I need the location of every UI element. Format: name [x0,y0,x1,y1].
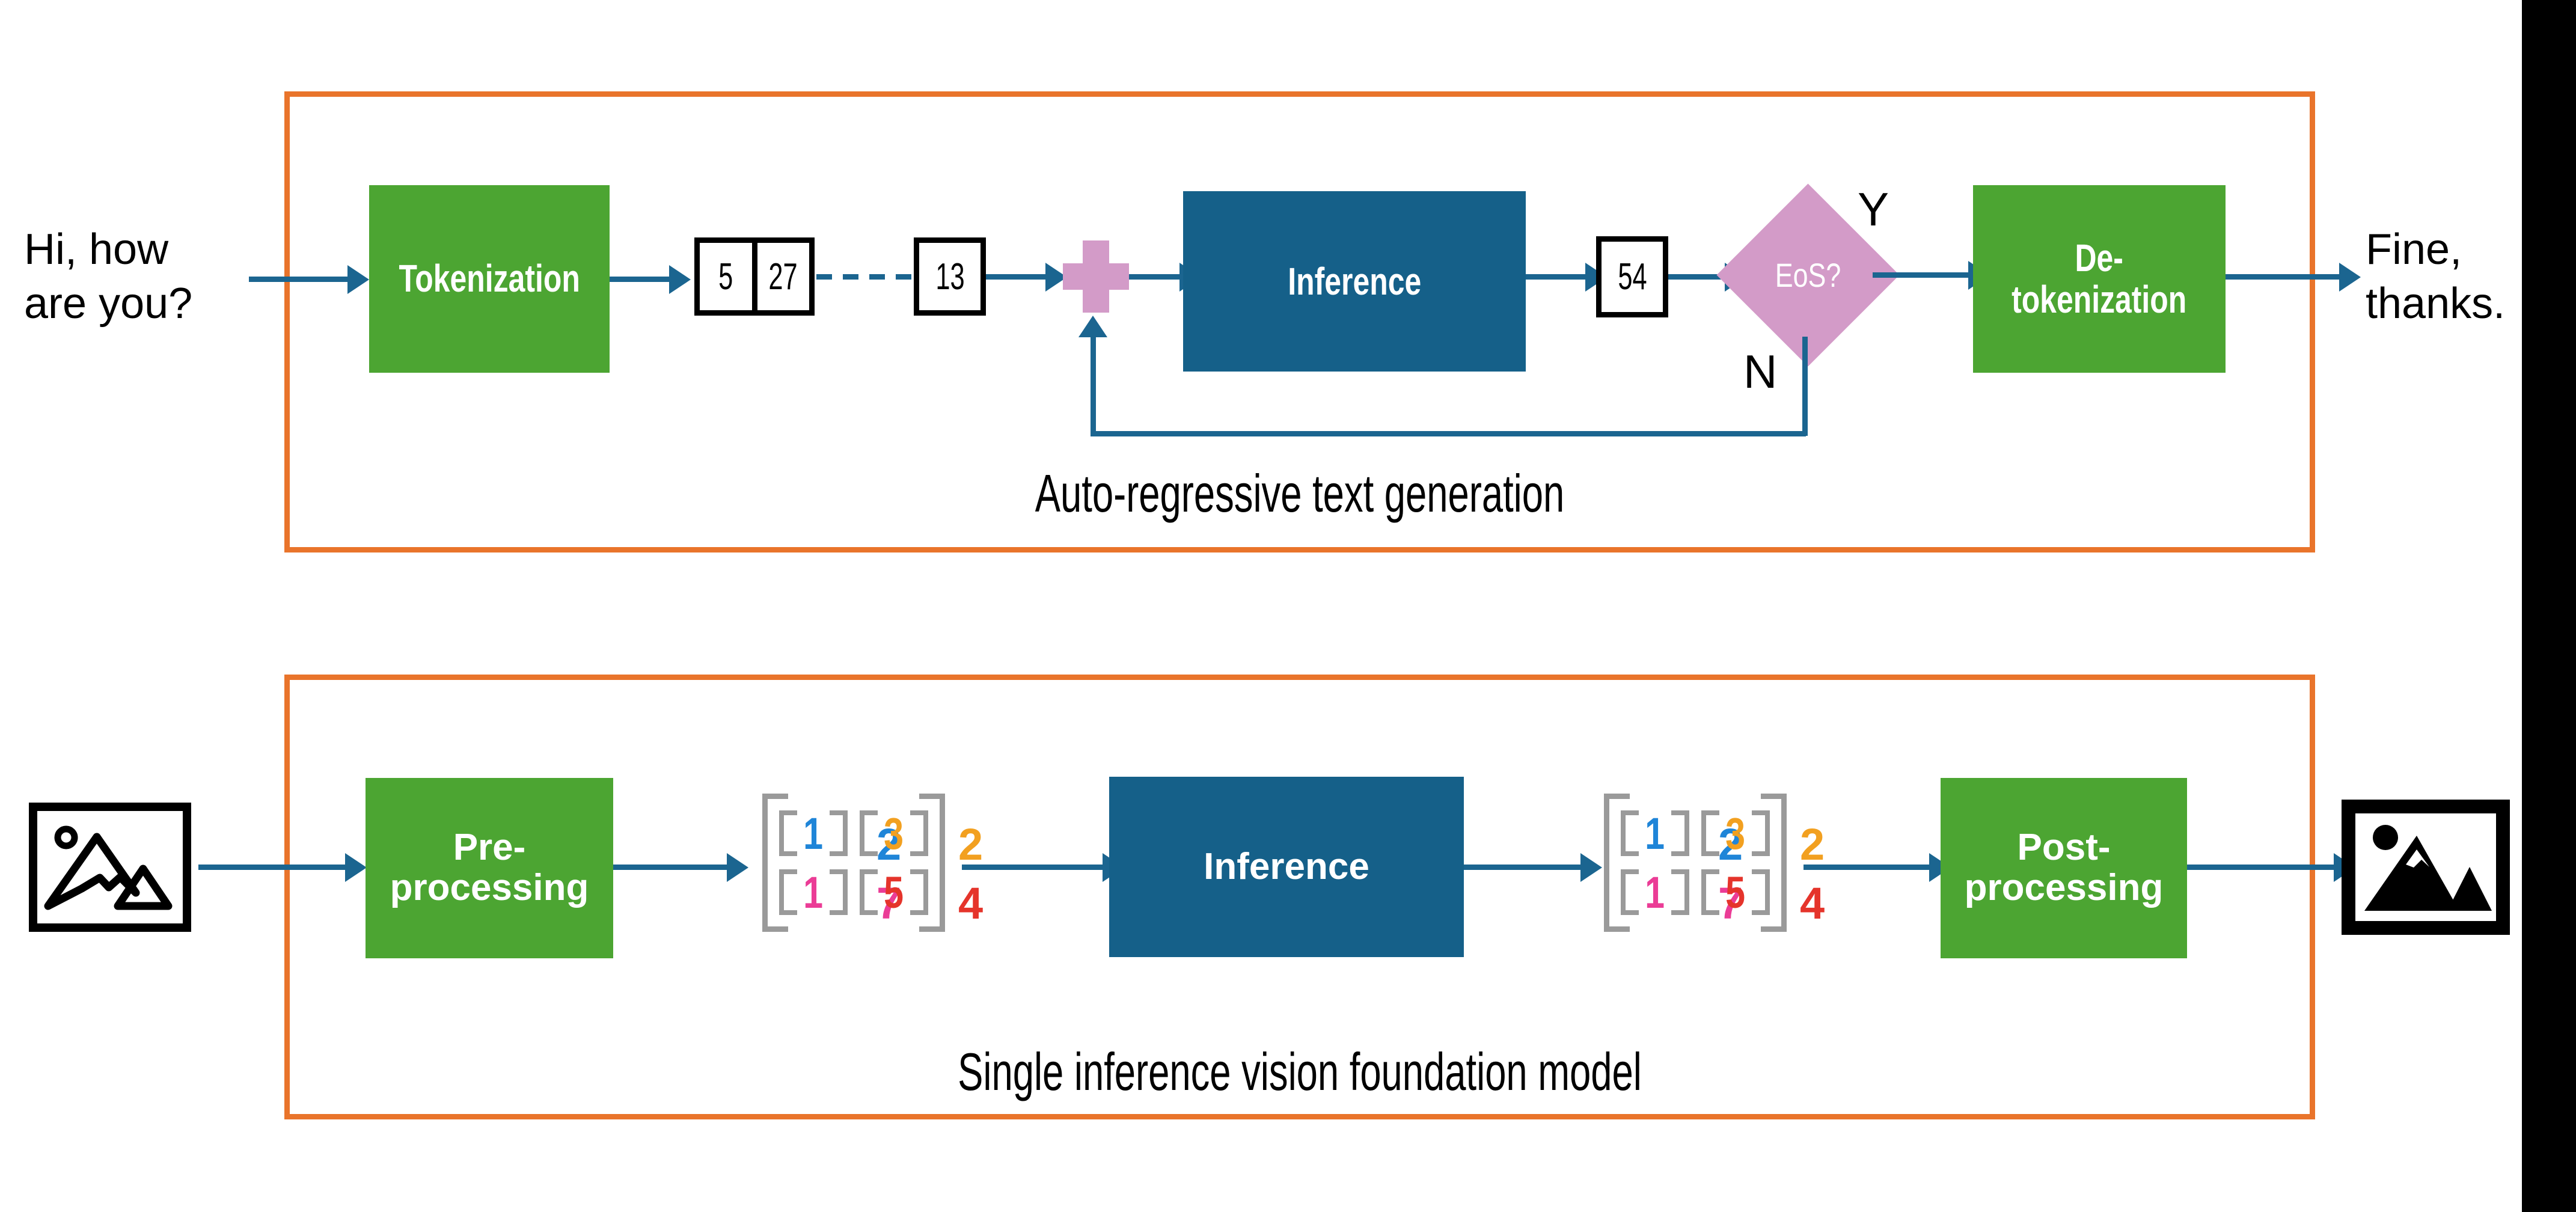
tensor-output-value-1-3: 4 [1800,878,1825,929]
tensor-input-value-0-0: 1 [804,808,824,859]
tokenization-box[interactable]: Tokenization [369,185,610,373]
preprocessing-label-line-1: Pre- [390,828,589,868]
concat-plus-icon [1063,240,1129,313]
arrow-eos-yes-to-detokenization-line [1873,272,1972,278]
tokenization-label: Tokenization [399,258,580,299]
tensor-output-matrix: 1 3 1 5 [1604,794,1787,932]
tensor-output-value-0-3: 2 [1800,819,1825,870]
eos-decision-diamond[interactable]: EoS? [1743,210,1873,340]
tensor-input-cell-0-0: 1 [778,807,849,860]
branch-label-yes: Y [1858,180,1889,239]
token-box-0: 5 [700,243,752,310]
output-token-value: 54 [1618,256,1647,298]
arrow-plus-to-inference-line [1129,274,1183,280]
eos-diamond-label-wrap: EoS? [1743,210,1873,340]
feedback-loop-left-segment [1091,431,1806,436]
tensor-output-value-0-1: 3 [1726,808,1746,859]
arrow-detokenization-to-output-head [2339,263,2361,292]
plus-vertical-bar [1083,240,1109,313]
tensor-input-value-1-0: 1 [804,867,824,918]
preprocessing-label-line-2: processing [390,868,589,908]
input-prompt-line-1: Hi, how [24,222,265,277]
detokenization-label-wrap: De- tokenization [2012,237,2186,320]
tensor-input-matrix: 1 3 1 5 [762,794,945,932]
tensor-output-value-1-1: 5 [1726,867,1746,918]
feedback-loop-down-segment [1802,337,1808,436]
arrow-tokenization-to-tokens-head [669,265,691,294]
tensor-output-cell-1-1: 5 [1700,866,1771,919]
feedback-loop-up-segment [1091,337,1096,433]
preprocessing-box[interactable]: Pre- processing [366,778,613,958]
token-value-last: 13 [935,256,964,298]
preprocessing-label-wrap: Pre- processing [390,828,589,908]
output-token-box: 54 [1596,236,1668,317]
feedback-loop-arrow-head [1078,316,1107,337]
arrow-prompt-to-tokenization-line [249,277,351,282]
eos-diamond-label: EoS? [1775,256,1841,295]
arrow-inference-to-output-token-line [1526,274,1589,280]
arrow-inference-to-tensor-out-head [1580,853,1602,882]
inference-label-vision: Inference [1204,846,1369,887]
postprocessing-box[interactable]: Post- processing [1941,778,2187,958]
image-outline-icon [29,803,191,932]
arrow-postprocessing-to-image-line [2187,865,2337,870]
arrow-image-to-preprocessing-head [345,853,367,882]
arrow-tensor-to-inference-line [962,865,1106,870]
token-pair-boxes: 5 27 [694,237,815,316]
input-prompt-text: Hi, how are you? [24,222,265,331]
detokenization-box[interactable]: De- tokenization [1973,185,2226,373]
tensor-output-value-0-0: 1 [1645,808,1665,859]
tensor-output-cell-0-1: 3 [1700,807,1771,860]
arrow-inference-to-tensor-out-line [1464,865,1584,870]
arrow-tensor-out-to-postprocessing-line [1804,865,1933,870]
detokenization-label-line-1: De- [2012,237,2186,279]
panel-vision-caption: Single inference vision foundation model [569,1041,2031,1103]
tensor-input-cell-0-1: 3 [858,807,929,860]
inference-box-vision[interactable]: Inference [1109,777,1464,957]
tensor-output-value-1-0: 1 [1645,867,1665,918]
tensor-input-value-0-1: 3 [884,808,904,859]
token-box-1: 27 [752,243,810,310]
token-box-last: 13 [914,237,986,316]
branch-no-text: N [1743,345,1777,398]
token-value-1: 27 [769,256,798,298]
tensor-output-cell-0-0: 1 [1620,807,1690,860]
arrow-preprocessing-to-tensor-line [613,865,730,870]
branch-label-no: N [1743,343,1777,402]
image-filled-icon-svg [2342,800,2510,935]
arrow-token-to-plus-line [986,274,1049,280]
arrow-tokenization-to-tokens-line [610,277,673,282]
arrow-preprocessing-to-tensor-head [727,853,748,882]
image-filled-icon [2342,800,2510,935]
inference-box-text[interactable]: Inference [1183,191,1526,372]
tensor-input-cell-1-1: 5 [858,866,929,919]
inference-label-text: Inference [1288,260,1421,302]
tensor-input-cell-1-0: 1 [778,866,849,919]
tensor-input-value-1-3: 4 [958,878,983,929]
arrow-image-to-preprocessing-line [198,865,349,870]
postprocessing-label-wrap: Post- processing [1965,828,2164,908]
branch-yes-text: Y [1858,183,1889,236]
token-sequence-ellipsis-dashed-line [816,274,913,280]
panel-text-caption: Auto-regressive text generation [569,463,2031,524]
image-outline-icon-svg [29,803,191,932]
tensor-input-value-1-1: 5 [884,867,904,918]
postprocessing-label-line-1: Post- [1965,828,2164,868]
tensor-input-value-0-3: 2 [958,819,983,870]
token-value-0: 5 [718,256,733,298]
tensor-output-cell-1-0: 1 [1620,866,1690,919]
diagram-canvas: Hi, how are you? Tokenization 5 27 13 In… [0,0,2576,1212]
arrow-prompt-to-tokenization-head [347,265,369,294]
postprocessing-label-line-2: processing [1965,868,2164,908]
detokenization-label-line-2: tokenization [2012,279,2186,320]
arrow-detokenization-to-output-line [2226,274,2343,280]
input-prompt-line-2: are you? [24,277,265,331]
right-edge-black-bar [2522,0,2576,1212]
